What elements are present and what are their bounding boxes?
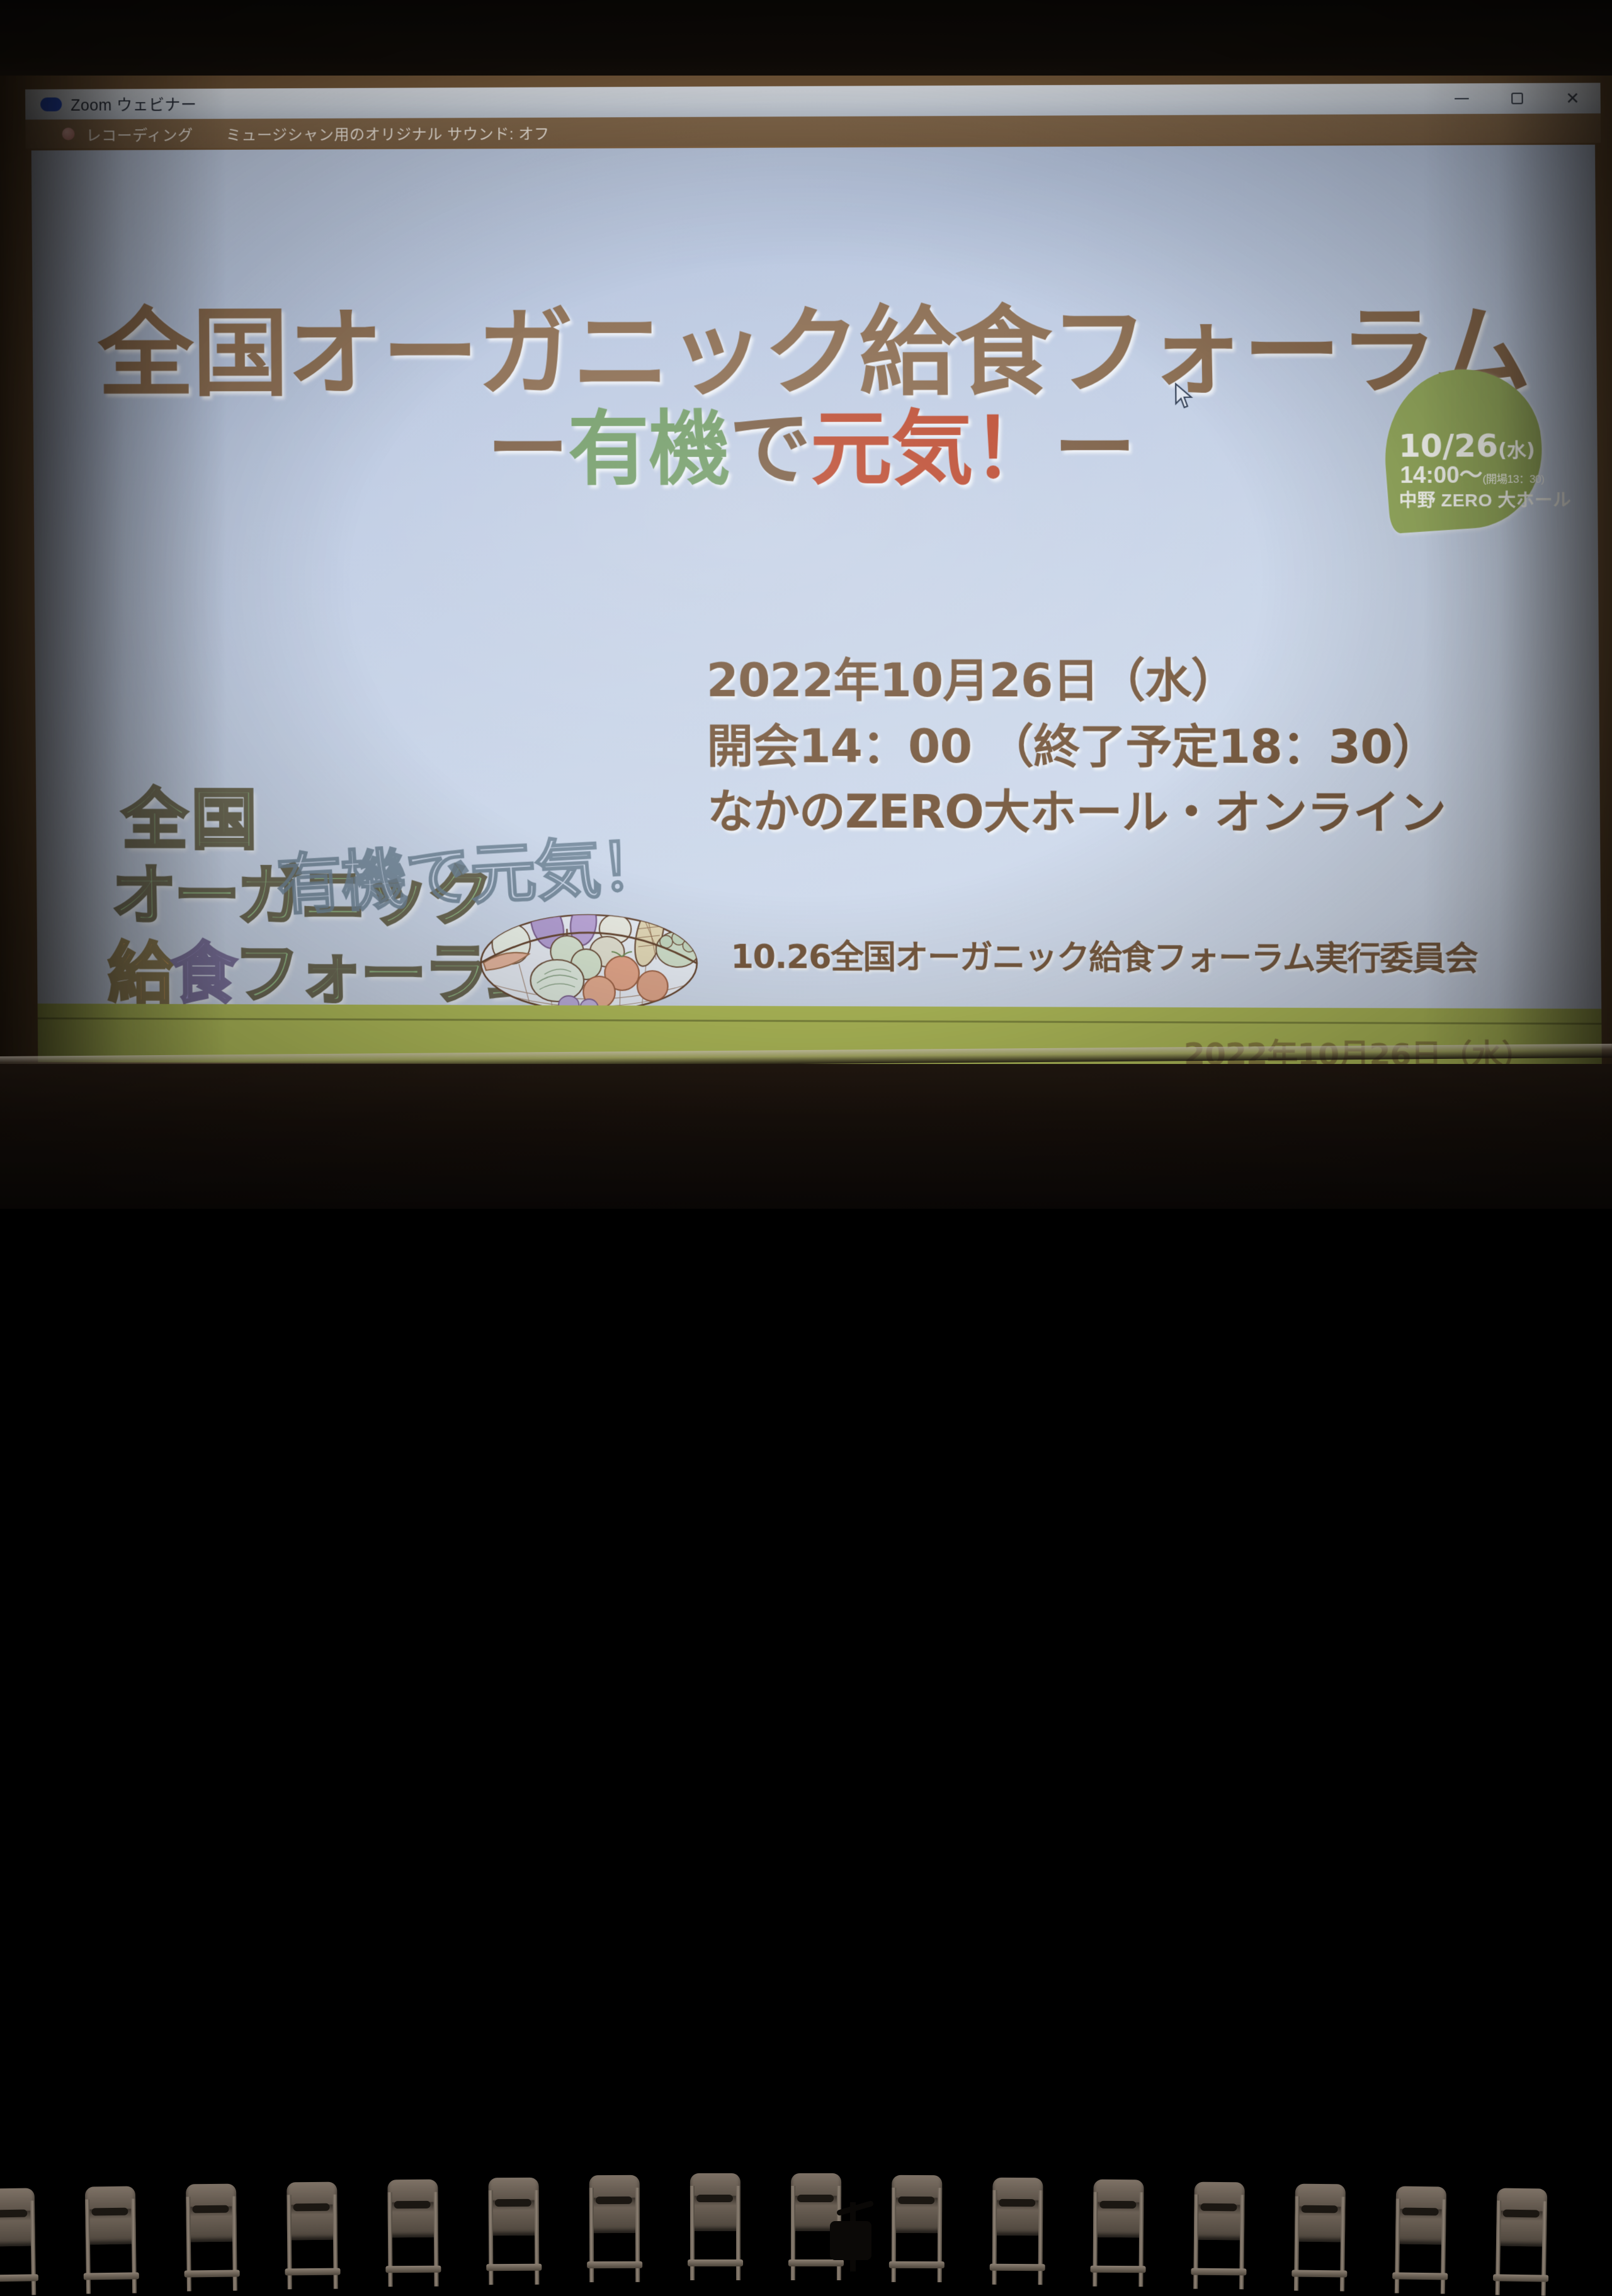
chair-slot: [495, 2199, 531, 2207]
chair-slot: [293, 2203, 330, 2212]
chair-seat: [688, 2259, 743, 2266]
chair-seat: [385, 2266, 441, 2273]
subtitle-green: 有機: [567, 402, 730, 497]
chair: [81, 2186, 140, 2293]
projected-zoom-window: Zoom ウェビナー ✕ レコーディング ミュージシャン用のオリジナル サウンド…: [25, 83, 1608, 1072]
chair-row: [0, 2134, 1612, 2273]
chair: [182, 2183, 241, 2291]
info-line-time: 開会14：00 （終了予定18：30）: [707, 714, 1547, 781]
chair: [1391, 2186, 1450, 2293]
chair-seat: [1392, 2272, 1448, 2280]
subtitle-red: 元気！: [810, 402, 1054, 497]
chair-seat: [0, 2274, 38, 2282]
chair: [1492, 2188, 1552, 2295]
footer-divider: [38, 1017, 1602, 1025]
chair-slot: [999, 2199, 1035, 2207]
info-line-date: 2022年10月26日（水）: [706, 648, 1546, 715]
subtitle-dash-left: ー: [487, 403, 568, 497]
event-info-block: 2022年10月26日（水） 開会14：00 （終了予定18：30） なかのZE…: [706, 648, 1547, 846]
original-sound-label[interactable]: ミュージシャン用のオリジナル サウンド: オフ: [226, 121, 550, 144]
chair-slot: [1301, 2205, 1337, 2214]
chair: [586, 2175, 644, 2282]
wall-shadow-right: [1423, 76, 1612, 1083]
chair-seat: [285, 2268, 340, 2276]
chair: [1290, 2183, 1349, 2291]
chair-seat: [1091, 2266, 1146, 2273]
chair-seat: [990, 2264, 1045, 2271]
chair-slot: [596, 2197, 632, 2204]
chair-slot: [91, 2208, 128, 2216]
wall-shadow-left: [0, 76, 227, 1083]
slide-body: 全国オーガニック給食フォーラム ー有機で元気！ー 10/26(水) 14:00〜…: [31, 145, 1601, 1009]
chair-slot: [0, 2210, 27, 2218]
mouse-pointer-icon: [1174, 383, 1196, 410]
chair-seat: [1493, 2274, 1548, 2282]
chair: [1189, 2182, 1249, 2290]
microphone-stand-icon: [825, 2188, 885, 2271]
chair: [686, 2173, 744, 2280]
auditorium-photo: Zoom ウェビナー ✕ レコーディング ミュージシャン用のオリジナル サウンド…: [0, 0, 1612, 1209]
chair: [0, 2188, 40, 2295]
chair-seat: [889, 2261, 945, 2268]
chair: [1089, 2180, 1147, 2287]
chair: [283, 2182, 342, 2290]
chair-seat: [486, 2264, 542, 2271]
chair-slot: [1402, 2208, 1439, 2216]
slide-subtitle: ー有機で元気！ー: [33, 382, 1598, 501]
chair-seat: [84, 2272, 139, 2280]
info-line-venue: なかのZERO大ホール・オンライン: [707, 779, 1547, 847]
chair-seat: [1291, 2270, 1347, 2277]
mic-head: [830, 2221, 871, 2260]
presentation-slide: 全国オーガニック給食フォーラム ー有機で元気！ー 10/26(水) 14:00〜…: [31, 145, 1602, 1068]
chair-slot: [1200, 2203, 1237, 2212]
subtitle-brown: で: [729, 402, 811, 497]
stage-floor: [0, 1064, 1612, 1209]
vegetable-basket-illustration: [462, 888, 717, 1015]
chair-slot: [1503, 2210, 1540, 2218]
chair: [485, 2178, 543, 2285]
chair: [989, 2178, 1047, 2285]
chair-slot: [898, 2197, 934, 2204]
chair-seat: [587, 2261, 642, 2268]
chair-seat: [184, 2270, 240, 2277]
chair-slot: [394, 2201, 431, 2208]
chair-seat: [1191, 2268, 1246, 2276]
chair-slot: [192, 2205, 229, 2214]
recording-status-bar: レコーディング ミュージシャン用のオリジナル サウンド: オフ: [25, 113, 1601, 149]
chair: [888, 2175, 946, 2282]
chair-slot: [1099, 2201, 1136, 2208]
subtitle-dash-right: ー: [1053, 402, 1135, 496]
chair: [383, 2180, 442, 2287]
chair-slot: [696, 2195, 733, 2202]
